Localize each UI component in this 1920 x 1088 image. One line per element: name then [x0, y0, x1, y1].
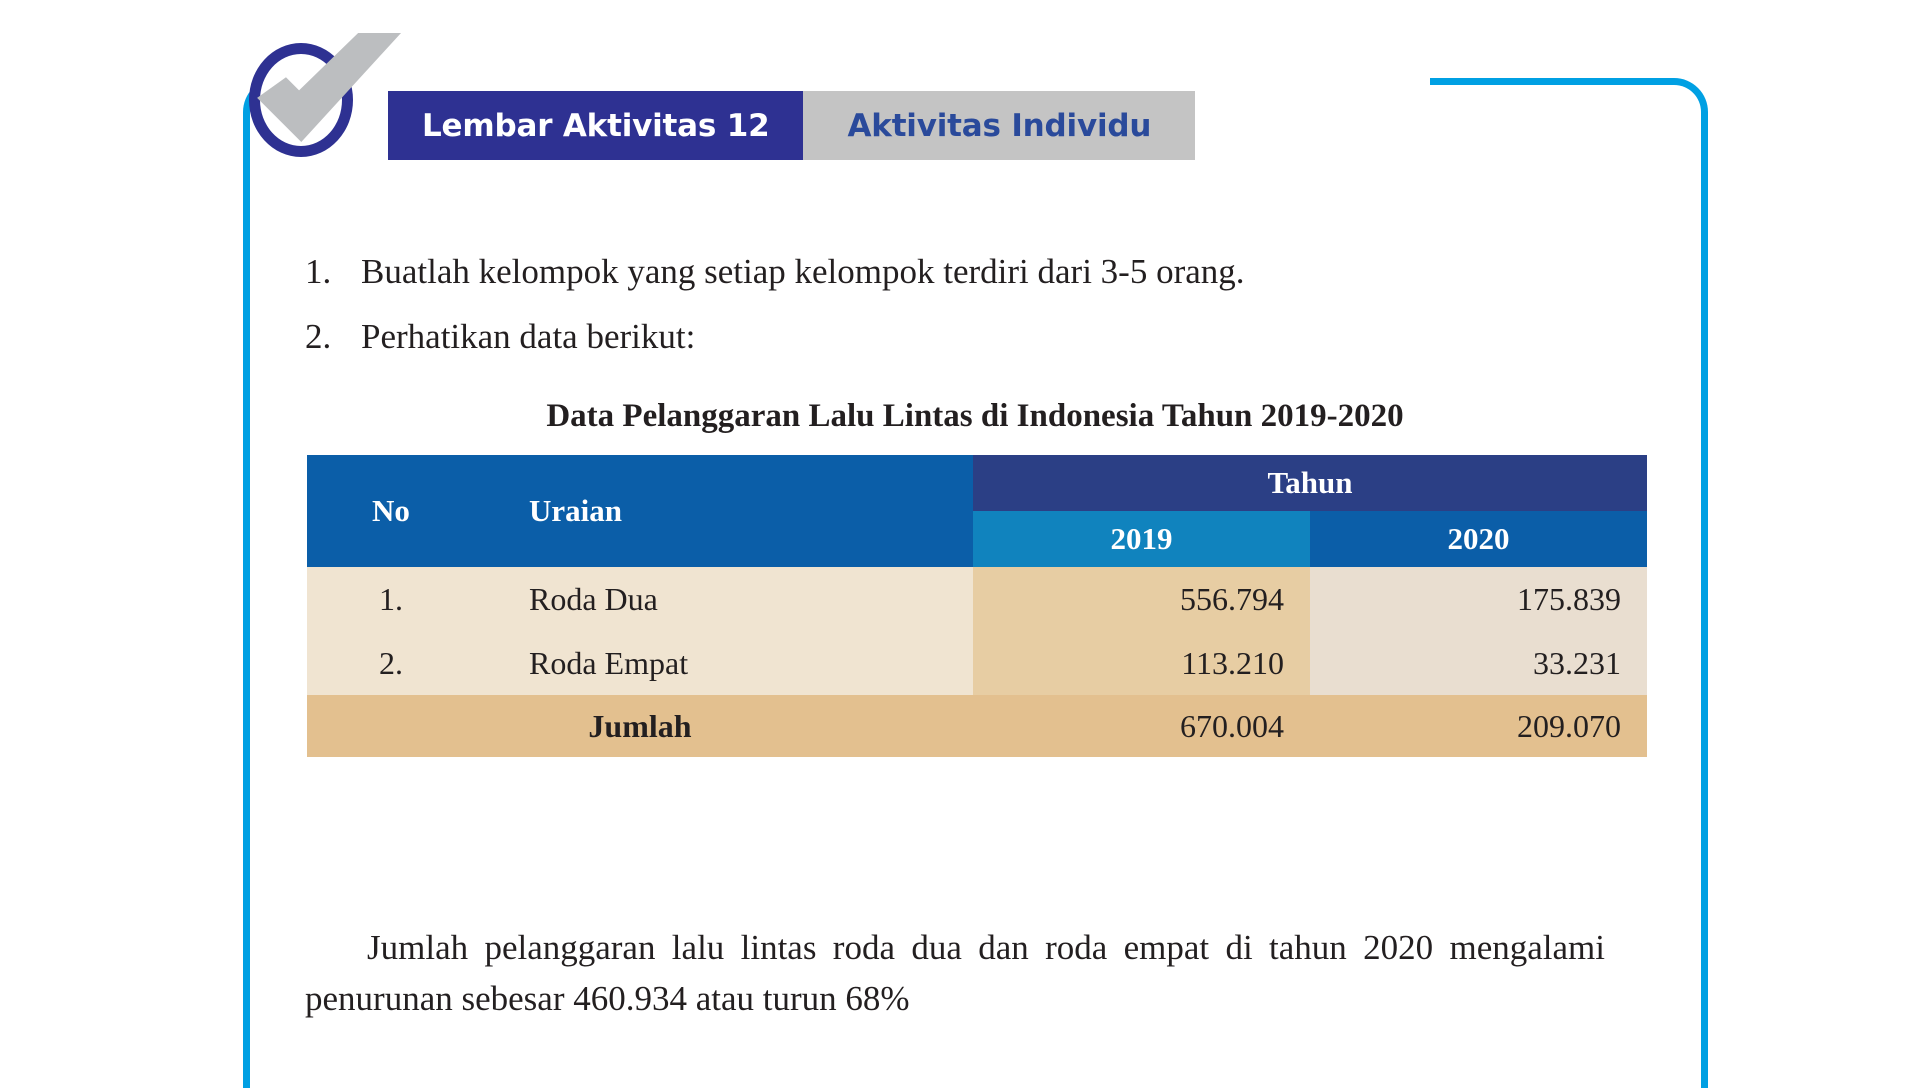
cell-no: 1. — [307, 567, 475, 631]
instruction-text: Buatlah kelompok yang setiap kelompok te… — [361, 250, 1245, 294]
total-label: Jumlah — [307, 695, 973, 757]
table-head: No Uraian Tahun 2019 2020 — [307, 455, 1647, 567]
traffic-violation-table: No Uraian Tahun 2019 2020 1. Roda Dua 55… — [307, 455, 1647, 757]
instruction-text: Perhatikan data berikut: — [361, 315, 695, 359]
activity-header: Lembar Aktivitas 12 Aktivitas Individu — [388, 91, 1195, 160]
column-header-no: No — [307, 455, 475, 567]
closing-paragraph: Jumlah pelanggaran lalu lintas roda dua … — [305, 923, 1605, 1025]
table-body: 1. Roda Dua 556.794 175.839 2. Roda Empa… — [307, 567, 1647, 757]
table-row: 2. Roda Empat 113.210 33.231 — [307, 631, 1647, 695]
cell-uraian: Roda Empat — [475, 631, 973, 695]
table-total-row: Jumlah 670.004 209.070 — [307, 695, 1647, 757]
cell-2019: 113.210 — [973, 631, 1310, 695]
column-header-2019: 2019 — [973, 511, 1310, 567]
activity-title-tab: Lembar Aktivitas 12 — [388, 91, 803, 160]
cell-2019: 556.794 — [973, 567, 1310, 631]
instruction-number: 1. — [305, 250, 361, 294]
column-header-2020: 2020 — [1310, 511, 1647, 567]
table-header-row-1: No Uraian Tahun — [307, 455, 1647, 511]
column-header-tahun: Tahun — [973, 455, 1647, 511]
instruction-item-2: 2. Perhatikan data berikut: — [305, 315, 1605, 359]
page-root: Lembar Aktivitas 12 Aktivitas Individu 1… — [0, 0, 1920, 1080]
checkmark-glyph — [249, 33, 409, 173]
table-caption: Data Pelanggaran Lalu Lintas di Indonesi… — [300, 398, 1650, 435]
total-2020: 209.070 — [1310, 695, 1647, 757]
cell-no: 2. — [307, 631, 475, 695]
activity-mode-tab: Aktivitas Individu — [803, 91, 1195, 160]
instruction-item-1: 1. Buatlah kelompok yang setiap kelompok… — [305, 250, 1605, 294]
column-header-uraian: Uraian — [475, 455, 973, 567]
total-2019: 670.004 — [973, 695, 1310, 757]
table-row: 1. Roda Dua 556.794 175.839 — [307, 567, 1647, 631]
cell-uraian: Roda Dua — [475, 567, 973, 631]
check-circle-icon — [249, 43, 367, 161]
cell-2020: 175.839 — [1310, 567, 1647, 631]
cell-2020: 33.231 — [1310, 631, 1647, 695]
instruction-number: 2. — [305, 315, 361, 359]
